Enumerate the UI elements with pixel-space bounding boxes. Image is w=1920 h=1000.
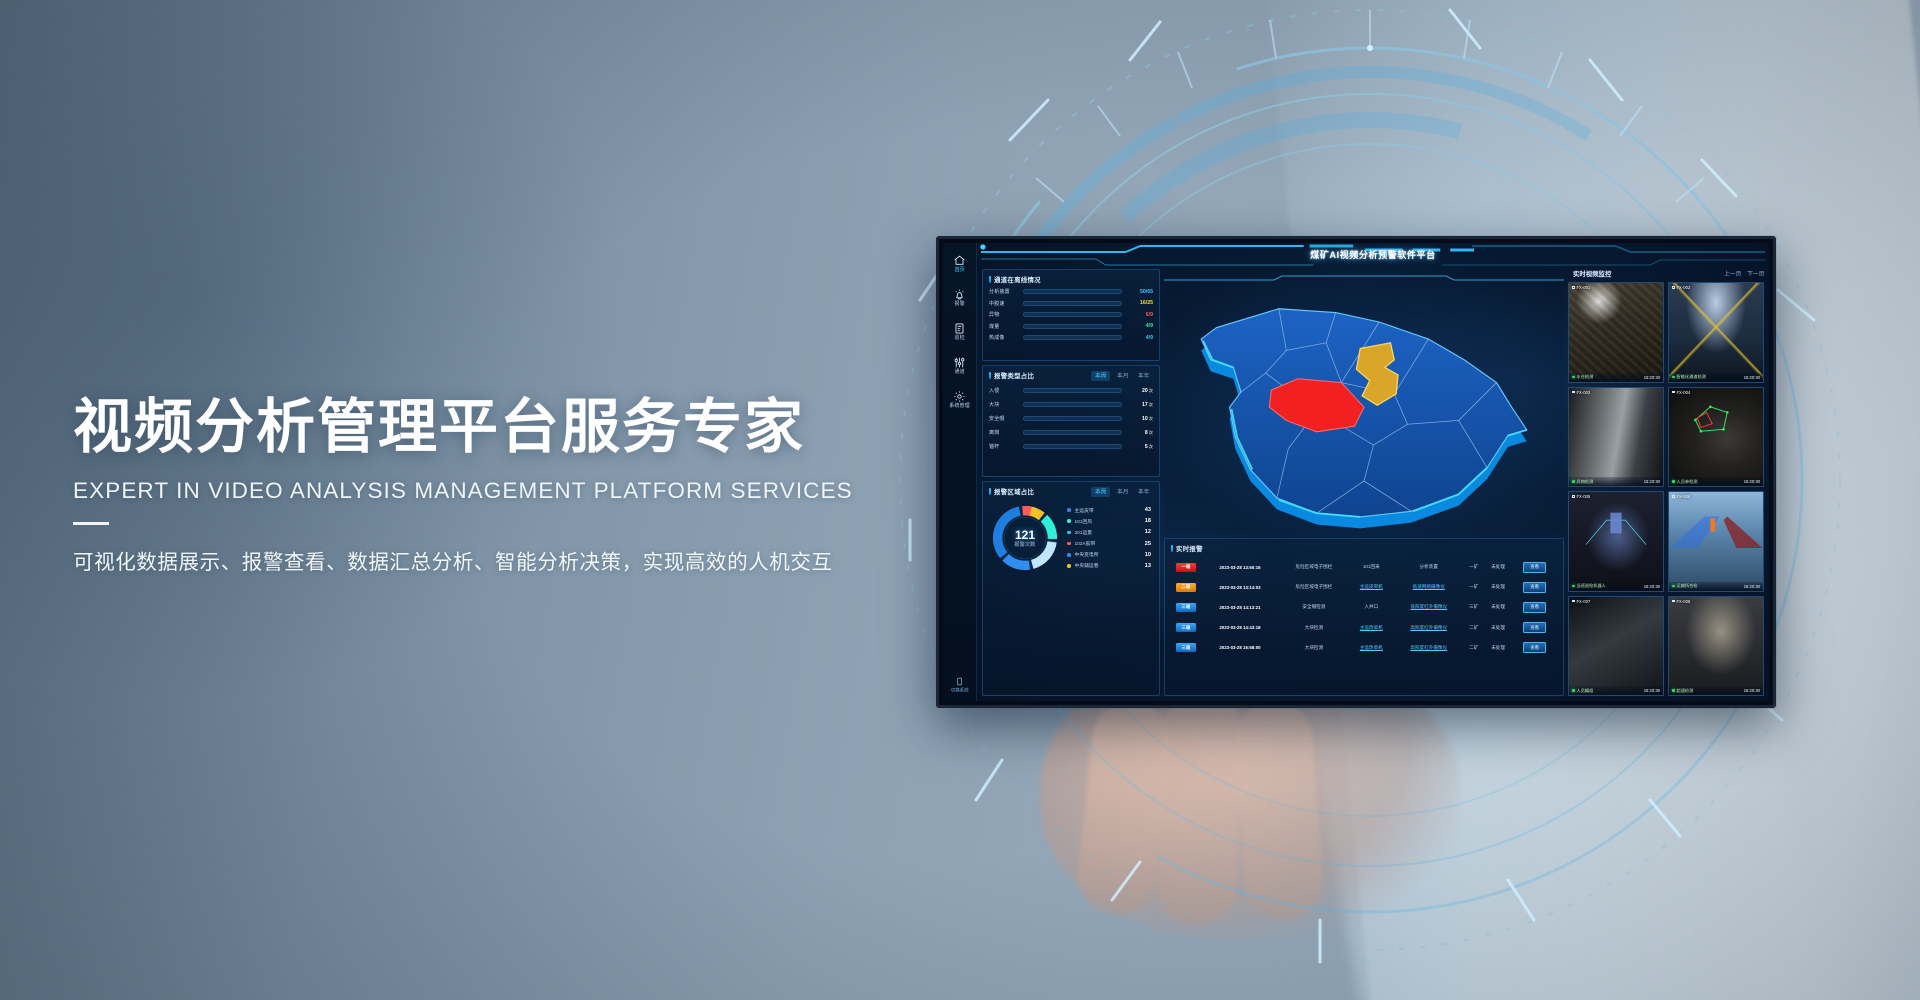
alarm-type-track bbox=[1023, 430, 1122, 435]
channel-bar-list: 分析装置 50/65 中胶速 16/25 异物 bbox=[989, 288, 1153, 341]
video-lane-markings bbox=[1669, 283, 1763, 382]
alarm-time-cell: 2023-03-28 15:68:00 bbox=[1201, 638, 1279, 658]
channel-bar-value: 6/9 bbox=[1126, 312, 1153, 318]
map-graphic bbox=[1164, 269, 1564, 534]
alarm-location-cell[interactable]: 主运改单机 bbox=[1349, 638, 1394, 658]
legend-dot bbox=[1067, 553, 1071, 557]
alarm-mine-cell: 一矿 bbox=[1464, 577, 1484, 597]
donut-total-value: 121 bbox=[1015, 528, 1035, 542]
channel-bar-label: 异物 bbox=[989, 311, 1019, 318]
sidebar-item-system-label: 系统管理 bbox=[949, 403, 970, 410]
view-button[interactable]: 查看 bbox=[1523, 582, 1546, 593]
alarm-type-row: 大块 17次 bbox=[989, 401, 1153, 408]
status-dot-icon bbox=[1572, 689, 1575, 692]
alarm-type-cell: 大块检测 bbox=[1279, 618, 1349, 638]
alarm-area-panel-title: 报警区域占比 bbox=[989, 487, 1034, 496]
video-tile[interactable]: FX-006 运输所合检 15:20:30 bbox=[1668, 491, 1764, 592]
video-feed-image bbox=[1569, 388, 1663, 487]
alarm-type-unit: 次 bbox=[1149, 388, 1153, 393]
record-dot-icon bbox=[1572, 391, 1575, 394]
alarm-type-unit: 次 bbox=[1149, 444, 1153, 449]
alarm-type-label: 入侵 bbox=[989, 387, 1019, 394]
alarm-type-row: 入侵 20次 bbox=[989, 387, 1153, 394]
video-panel-title: 实时视频监控 bbox=[1568, 269, 1611, 278]
alarm-area-panel: 报警区域占比 本周 本月 本年 bbox=[982, 481, 1160, 696]
video-tile-bar: 超速检测 15:20:30 bbox=[1669, 686, 1763, 695]
video-tile-name: 当班巡检机器人 bbox=[1572, 583, 1606, 589]
hero-divider bbox=[73, 522, 109, 525]
video-tile-time: 15:20:30 bbox=[1644, 688, 1660, 693]
legend-label: 中央变电所 bbox=[1075, 551, 1141, 558]
video-tile-name: 人员编组 bbox=[1572, 688, 1593, 694]
channel-bar-row: 中胶速 16/25 bbox=[989, 300, 1153, 307]
alarm-action-cell: 查看 bbox=[1512, 597, 1557, 617]
realtime-alarm-table: 一级 2023-03-28 13:60:16 危险区域电子围栏 101回采 分析… bbox=[1171, 557, 1557, 658]
alarm-type-label: 锚杆 bbox=[989, 443, 1019, 450]
alarm-location-cell: 入井口 bbox=[1349, 597, 1394, 617]
alarm-status-cell: 未处理 bbox=[1484, 618, 1512, 638]
video-pager: 上一页 下一页 bbox=[1727, 270, 1764, 277]
table-row[interactable]: 一级 2023-03-28 13:60:16 危险区域电子围栏 101回采 分析… bbox=[1171, 557, 1557, 577]
status-badge: 三级 bbox=[1176, 603, 1195, 612]
alarm-mine-cell: 二矿 bbox=[1464, 638, 1484, 658]
table-row[interactable]: 三级 2023-03-28 15:68:00 大块检测 主运改单机 高照度红外摄… bbox=[1171, 638, 1557, 658]
alarm-type-label: 安全帽 bbox=[989, 415, 1019, 422]
alarm-device-cell[interactable]: 低速网络摄像仪 bbox=[1394, 577, 1464, 597]
status-dot-icon bbox=[1672, 480, 1675, 483]
legend-value: 10 bbox=[1145, 552, 1151, 558]
channel-bar-label: 分析装置 bbox=[989, 288, 1019, 295]
sidebar-bottom-action[interactable]: 切换系统 bbox=[943, 677, 976, 692]
hero-subtitle-en: EXPERT IN VIDEO ANALYSIS MANAGEMENT PLAT… bbox=[73, 478, 973, 504]
dashboard-body: 通道在离线情况 分析装置 50/65 中胶速 16/25 bbox=[977, 269, 1769, 701]
alarm-area-tabs: 本周 本月 本年 bbox=[1095, 488, 1153, 496]
alarm-type-row: 离岗 8次 bbox=[989, 429, 1153, 436]
status-dot-icon bbox=[1572, 480, 1575, 483]
video-tile-time: 15:20:30 bbox=[1644, 375, 1660, 380]
channel-bar-track bbox=[1023, 335, 1122, 340]
alarm-type-panel: 报警类型占比 本周 本月 本年 入侵 20次 bbox=[982, 365, 1160, 477]
sidebar-item-channel-label: 通道 bbox=[954, 369, 964, 376]
video-tile-name: 异物检测 bbox=[1572, 479, 1593, 485]
video-tile-bar: 异物检测 15:20:30 bbox=[1569, 477, 1663, 486]
video-feed-texture bbox=[1569, 283, 1663, 382]
detection-overlay bbox=[1569, 492, 1663, 548]
tab-week[interactable]: 本周 bbox=[1092, 371, 1111, 381]
monitor-frame: 首页 报警 巡检 通道 系统管理 切换系统 bbox=[936, 236, 1776, 708]
dashboard-main: 煤矿AI视频分析预警软件平台 通道在离线情况 分析装置 bbox=[977, 243, 1769, 701]
switch-icon bbox=[955, 677, 964, 686]
status-dot-icon bbox=[1572, 585, 1575, 588]
alarm-type-row: 锚杆 5次 bbox=[989, 443, 1153, 450]
view-button[interactable]: 查看 bbox=[1523, 622, 1546, 633]
record-dot-icon bbox=[1672, 600, 1675, 603]
alarm-area-donut: 121 报警次数 bbox=[989, 502, 1061, 574]
legend-label: 主运皮带 bbox=[1075, 507, 1141, 514]
video-panel-header: 实时视频监控 上一页 下一页 bbox=[1568, 269, 1764, 278]
record-dot-icon bbox=[1672, 391, 1675, 394]
record-dot-icon bbox=[1572, 495, 1575, 498]
alarm-type-value: 17次 bbox=[1126, 402, 1153, 408]
video-tile-time: 15:20:30 bbox=[1744, 479, 1760, 484]
channel-bar-track bbox=[1023, 312, 1122, 317]
alarm-action-cell: 查看 bbox=[1512, 638, 1557, 658]
video-tile-code: FX-002 bbox=[1672, 285, 1690, 290]
status-dot-icon bbox=[1672, 689, 1675, 692]
alarm-action-cell: 查看 bbox=[1512, 618, 1557, 638]
status-dot-icon bbox=[1572, 376, 1575, 379]
video-tile[interactable]: FX-008 超速检测 15:20:30 bbox=[1668, 596, 1764, 697]
legend-dot bbox=[1067, 508, 1071, 512]
alarm-status-cell: 未处理 bbox=[1484, 638, 1512, 658]
dashboard-left-column: 通道在离线情况 分析装置 50/65 中胶速 16/25 bbox=[982, 269, 1160, 696]
sidebar-item-home[interactable]: 首页 bbox=[953, 254, 966, 273]
home-icon bbox=[953, 254, 966, 267]
sidebar-item-home-label: 首页 bbox=[954, 267, 964, 274]
alarm-time-cell: 2023-03-28 14:13:21 bbox=[1201, 597, 1279, 617]
alarm-type-value: 8次 bbox=[1126, 430, 1153, 436]
record-dot-icon bbox=[1572, 600, 1575, 603]
video-tile-bar: 当班巡检机器人 15:20:30 bbox=[1569, 582, 1663, 591]
video-tile-code: FX-008 bbox=[1672, 599, 1690, 604]
alarm-level-cell: 三级 bbox=[1171, 597, 1201, 617]
area-tab-month[interactable]: 本月 bbox=[1113, 487, 1132, 497]
alarm-type-cell: 安全帽检测 bbox=[1279, 597, 1349, 617]
channel-bar-track bbox=[1023, 301, 1122, 306]
detection-overlay bbox=[1669, 388, 1763, 444]
legend-item: 101回风 18 bbox=[1067, 518, 1151, 525]
sidebar-bottom-label: 切换系统 bbox=[951, 686, 969, 693]
alarm-action-cell: 查看 bbox=[1512, 557, 1557, 577]
alarm-level-cell: 三级 bbox=[1171, 618, 1201, 638]
video-tile-name: 智能化通道检测 bbox=[1672, 374, 1706, 380]
dashboard-sidebar: 首页 报警 巡检 通道 系统管理 切换系统 bbox=[943, 243, 977, 701]
alarm-icon bbox=[953, 288, 966, 301]
video-feed-image bbox=[1669, 597, 1763, 696]
gear-icon bbox=[953, 390, 966, 403]
alarm-type-row: 安全帽 10次 bbox=[989, 415, 1153, 422]
table-row[interactable]: 二级 2023-03-28 13:14:03 危险区域电子围栏 主运皮带机 低速… bbox=[1171, 577, 1557, 597]
record-dot-icon bbox=[1672, 495, 1675, 498]
legend-value: 25 bbox=[1145, 541, 1151, 547]
video-tile[interactable]: FX-001 水仓检测 15:20:30 bbox=[1568, 282, 1664, 383]
alarm-type-track bbox=[1023, 444, 1122, 449]
video-tile-name: 超速检测 bbox=[1672, 688, 1693, 694]
alarm-status-cell: 未处理 bbox=[1484, 557, 1512, 577]
legend-label: 102A胶带 bbox=[1075, 540, 1141, 547]
detection-overlay bbox=[1669, 492, 1763, 548]
video-tile-bar: 智能化通道检测 15:20:30 bbox=[1669, 373, 1763, 382]
alarm-type-value: 10次 bbox=[1126, 416, 1153, 422]
video-tile-bar: 水仓检测 15:20:30 bbox=[1569, 373, 1663, 382]
sidebar-item-inspection[interactable]: 巡检 bbox=[953, 322, 966, 341]
alarm-time-cell: 2023-03-28 13:60:16 bbox=[1201, 557, 1279, 577]
sidebar-item-channel[interactable]: 通道 bbox=[953, 356, 966, 375]
legend-label: 101回风 bbox=[1075, 518, 1141, 525]
status-badge: 三级 bbox=[1176, 623, 1195, 632]
tab-year[interactable]: 本年 bbox=[1134, 371, 1153, 381]
realtime-alarm-title: 实时报警 bbox=[1171, 544, 1203, 553]
dashboard-header: 煤矿AI视频分析预警软件平台 bbox=[977, 243, 1769, 269]
channel-status-panel: 通道在离线情况 分析装置 50/65 中胶速 16/25 bbox=[982, 269, 1160, 361]
alarm-type-unit: 次 bbox=[1149, 416, 1153, 421]
legend-label: 201运量 bbox=[1075, 529, 1141, 536]
alarm-device-cell[interactable]: 高照度红外摄像仪 bbox=[1394, 638, 1464, 658]
video-feed-image bbox=[1569, 597, 1663, 696]
dashboard-title: 煤矿AI视频分析预警软件平台 bbox=[977, 248, 1769, 261]
video-tile-bar: 人员编组 15:20:30 bbox=[1569, 686, 1663, 695]
video-tile-code: FX-006 bbox=[1672, 494, 1690, 499]
realtime-alarm-panel: 实时报警 一级 2023-03-28 13:60:16 危险区域电子围栏 101… bbox=[1164, 538, 1564, 696]
video-tile-name: 运输所合检 bbox=[1672, 583, 1697, 589]
channel-bar-row: 分析装置 50/65 bbox=[989, 288, 1153, 295]
video-tile-bar: 运输所合检 15:20:30 bbox=[1669, 582, 1763, 591]
channel-bar-value: 50/65 bbox=[1126, 289, 1153, 295]
alarm-type-panel-title: 报警类型占比 bbox=[989, 371, 1034, 380]
realtime-alarm-header: 实时报警 bbox=[1171, 544, 1557, 553]
video-tile-time: 15:20:30 bbox=[1644, 584, 1660, 589]
area-tab-year[interactable]: 本年 bbox=[1134, 487, 1153, 497]
alarm-status-cell: 未处理 bbox=[1484, 597, 1512, 617]
alarm-type-track bbox=[1023, 416, 1122, 421]
alarm-status-cell: 未处理 bbox=[1484, 577, 1512, 597]
alarm-area-chart-wrap: 121 报警次数 主运皮带 43 bbox=[989, 500, 1153, 574]
hero-title: 视频分析管理平台服务专家 bbox=[73, 395, 973, 460]
video-tile-bar: 人员单检测 15:20:30 bbox=[1669, 477, 1763, 486]
alarm-type-unit: 次 bbox=[1149, 402, 1153, 407]
video-tile-code: FX-007 bbox=[1572, 599, 1590, 604]
channel-bar-row: 煤量 4/9 bbox=[989, 323, 1153, 330]
status-badge: 三级 bbox=[1176, 643, 1195, 652]
video-tile-code: FX-004 bbox=[1672, 390, 1690, 395]
alarm-area-legend: 主运皮带 43 101回风 18 201运量 bbox=[1067, 507, 1153, 570]
inspection-icon bbox=[953, 322, 966, 335]
video-tile-time: 15:20:30 bbox=[1644, 479, 1660, 484]
alarm-level-cell: 三级 bbox=[1171, 638, 1201, 658]
legend-value: 18 bbox=[1145, 518, 1151, 524]
alarm-type-panel-header: 报警类型占比 本周 本月 本年 bbox=[989, 371, 1153, 380]
alarm-level-cell: 二级 bbox=[1171, 577, 1201, 597]
alarm-action-cell: 查看 bbox=[1512, 577, 1557, 597]
video-tile-time: 15:20:30 bbox=[1744, 688, 1760, 693]
alarm-type-bar-list: 入侵 20次 大块 17次 安全帽 bbox=[989, 384, 1153, 450]
prev-page-button[interactable]: 上一页 bbox=[1724, 269, 1741, 277]
channel-bar-label: 中胶速 bbox=[989, 300, 1019, 307]
dashboard-screen: 首页 报警 巡检 通道 系统管理 切换系统 bbox=[943, 243, 1769, 701]
status-dot-icon bbox=[1672, 585, 1675, 588]
view-button[interactable]: 查看 bbox=[1523, 602, 1546, 613]
legend-item: 主运皮带 43 bbox=[1067, 507, 1151, 514]
dashboard-right-column: 实时视频监控 上一页 下一页 FX-001 水仓检测 bbox=[1568, 269, 1764, 696]
channel-bar-value: 4/9 bbox=[1126, 323, 1153, 329]
status-badge: 二级 bbox=[1176, 583, 1195, 592]
video-tile[interactable]: FX-003 异物检测 15:20:30 bbox=[1568, 387, 1664, 488]
channel-panel-header: 通道在离线情况 bbox=[989, 275, 1153, 284]
donut-center: 121 报警次数 bbox=[989, 502, 1061, 574]
view-button[interactable]: 查看 bbox=[1523, 642, 1546, 653]
channel-bar-row: 热成像 4/9 bbox=[989, 334, 1153, 341]
channel-panel-title: 通道在离线情况 bbox=[989, 275, 1041, 284]
legend-value: 43 bbox=[1145, 507, 1151, 513]
legend-dot bbox=[1067, 542, 1071, 546]
alarm-type-cell: 危险区域电子围栏 bbox=[1279, 577, 1349, 597]
video-tile-time: 15:20:30 bbox=[1744, 584, 1760, 589]
alarm-type-tabs: 本周 本月 本年 bbox=[1095, 372, 1153, 380]
legend-dot bbox=[1067, 519, 1071, 523]
alarm-device-cell: 分析装置 bbox=[1394, 557, 1464, 577]
alarm-location-cell: 101回采 bbox=[1349, 557, 1394, 577]
legend-item: 102A胶带 25 bbox=[1067, 540, 1151, 547]
channel-icon bbox=[953, 356, 966, 369]
video-grid: FX-001 水仓检测 15:20:30 FX-002 智能化通道检测 bbox=[1568, 282, 1764, 696]
alarm-level-cell: 一级 bbox=[1171, 557, 1201, 577]
sidebar-item-system[interactable]: 系统管理 bbox=[952, 390, 967, 409]
legend-item: 中央辅运巷 13 bbox=[1067, 562, 1151, 569]
channel-bar-value: 4/9 bbox=[1126, 335, 1153, 341]
legend-item: 201运量 12 bbox=[1067, 529, 1151, 536]
sidebar-item-inspection-label: 巡检 bbox=[954, 335, 964, 342]
video-tile-code: FX-001 bbox=[1572, 285, 1590, 290]
area-tab-week[interactable]: 本周 bbox=[1092, 487, 1111, 497]
sidebar-item-alarm-label: 报警 bbox=[954, 301, 964, 308]
tab-month[interactable]: 本月 bbox=[1113, 371, 1132, 381]
status-badge: 一级 bbox=[1176, 563, 1195, 572]
legend-value: 12 bbox=[1145, 529, 1151, 535]
video-tile-code: FX-005 bbox=[1572, 494, 1590, 499]
alarm-type-value: 20次 bbox=[1126, 388, 1153, 394]
alarm-type-cell: 危险区域电子围栏 bbox=[1279, 557, 1349, 577]
sidebar-item-alarm[interactable]: 报警 bbox=[953, 288, 966, 307]
video-tile-name: 人员单检测 bbox=[1672, 479, 1697, 485]
video-tile[interactable]: FX-005 当班巡检机器人 15:20:30 bbox=[1568, 491, 1664, 592]
record-dot-icon bbox=[1672, 286, 1675, 289]
status-dot-icon bbox=[1672, 376, 1675, 379]
alarm-mine-cell: 三矿 bbox=[1464, 597, 1484, 617]
hero-text-block: 视频分析管理平台服务专家 EXPERT IN VIDEO ANALYSIS MA… bbox=[73, 395, 973, 575]
channel-bar-track bbox=[1023, 289, 1122, 294]
alarm-time-cell: 2023-03-28 13:14:03 bbox=[1201, 577, 1279, 597]
legend-value: 13 bbox=[1145, 563, 1151, 569]
table-row[interactable]: 三级 2023-03-28 14:43:18 大块检测 主运改单机 高照度红外摄… bbox=[1171, 618, 1557, 638]
map-region-yellow bbox=[1356, 343, 1398, 405]
alarm-time-cell: 2023-03-28 14:43:18 bbox=[1201, 618, 1279, 638]
alarm-type-cell: 大块检测 bbox=[1279, 638, 1349, 658]
legend-label: 中央辅运巷 bbox=[1075, 562, 1141, 569]
alarm-mine-cell: 一矿 bbox=[1464, 557, 1484, 577]
legend-dot bbox=[1067, 564, 1071, 568]
alarm-type-value: 5次 bbox=[1126, 444, 1153, 450]
alarm-type-track bbox=[1023, 402, 1122, 407]
donut-total-caption: 报警次数 bbox=[1014, 541, 1035, 548]
alarm-area-panel-header: 报警区域占比 本周 本月 本年 bbox=[989, 487, 1153, 496]
alarm-mine-cell: 二矿 bbox=[1464, 618, 1484, 638]
next-page-button[interactable]: 下一页 bbox=[1747, 269, 1764, 277]
alarm-location-cell[interactable]: 主运皮带机 bbox=[1349, 577, 1394, 597]
record-dot-icon bbox=[1572, 286, 1575, 289]
hero-description: 可视化数据展示、报警查看、数据汇总分析、智能分析决策，实现高效的人机交互 bbox=[73, 545, 973, 575]
region-map[interactable] bbox=[1164, 269, 1564, 534]
channel-bar-track bbox=[1023, 324, 1122, 329]
dashboard-center-column: 实时报警 一级 2023-03-28 13:60:16 危险区域电子围栏 101… bbox=[1164, 269, 1564, 696]
video-tile[interactable]: FX-007 人员编组 15:20:30 bbox=[1568, 596, 1664, 697]
video-tile-code: FX-003 bbox=[1572, 390, 1590, 395]
legend-item: 中央变电所 10 bbox=[1067, 551, 1151, 558]
video-tile-time: 15:20:30 bbox=[1744, 375, 1760, 380]
table-row[interactable]: 三级 2023-03-28 14:13:21 安全帽检测 入井口 低照度红外摄像… bbox=[1171, 597, 1557, 617]
channel-bar-label: 热成像 bbox=[989, 334, 1019, 341]
alarm-type-unit: 次 bbox=[1149, 430, 1153, 435]
alarm-type-label: 大块 bbox=[989, 401, 1019, 408]
alarm-type-track bbox=[1023, 388, 1122, 393]
video-tile-name: 水仓检测 bbox=[1572, 374, 1593, 380]
alarm-location-cell[interactable]: 主运改单机 bbox=[1349, 618, 1394, 638]
channel-bar-label: 煤量 bbox=[989, 323, 1019, 330]
legend-dot bbox=[1067, 531, 1071, 535]
video-tile[interactable]: FX-004 人员单检测 15:20:30 bbox=[1668, 387, 1764, 488]
alarm-device-cell[interactable]: 高照度红外摄像仪 bbox=[1394, 618, 1464, 638]
video-tile[interactable]: FX-002 智能化通道检测 15:20:30 bbox=[1668, 282, 1764, 383]
view-button[interactable]: 查看 bbox=[1523, 562, 1546, 573]
alarm-device-cell[interactable]: 低照度红外摄像仪 bbox=[1394, 597, 1464, 617]
alarm-type-label: 离岗 bbox=[989, 429, 1019, 436]
channel-bar-row: 异物 6/9 bbox=[989, 311, 1153, 318]
channel-bar-value: 16/25 bbox=[1126, 300, 1153, 306]
